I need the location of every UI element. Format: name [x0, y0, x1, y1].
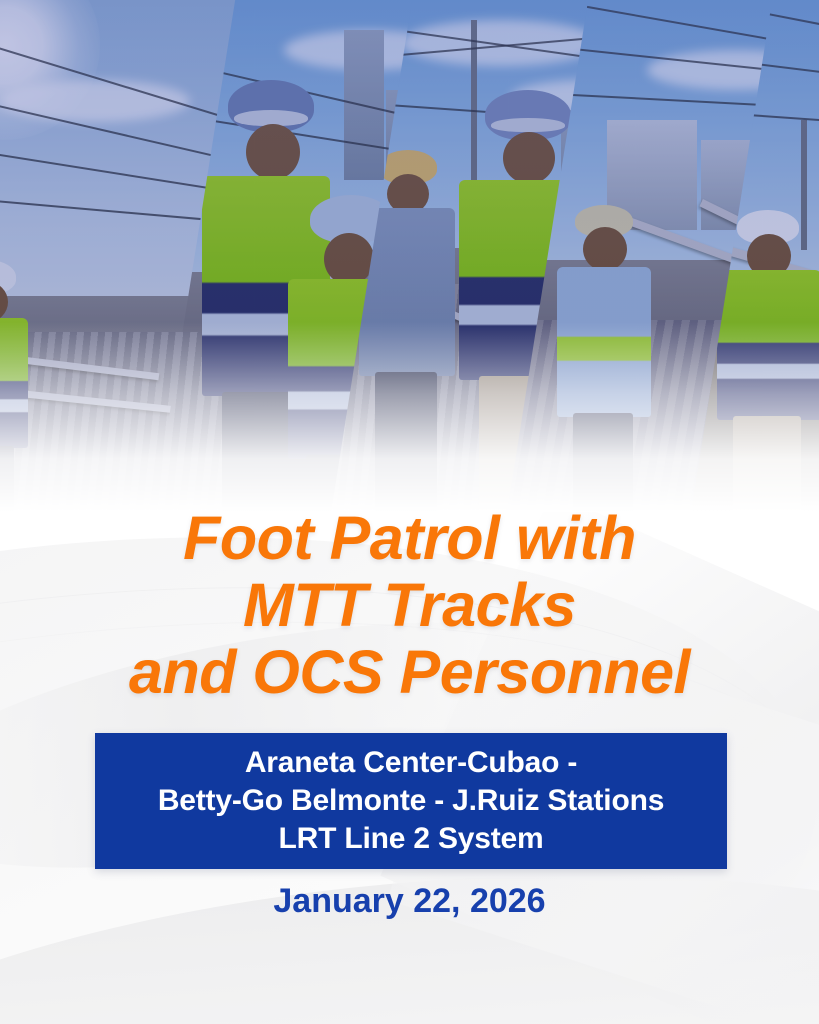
poster-content: Foot Patrol with MTT Tracks and OCS Pers…	[0, 0, 819, 1024]
banner-line-3: LRT Line 2 System	[278, 820, 543, 858]
location-banner: Araneta Center-Cubao - Betty-Go Belmonte…	[95, 733, 727, 869]
title-line-1: Foot Patrol with	[0, 505, 819, 572]
banner-line-2: Betty-Go Belmonte - J.Ruiz Stations	[158, 782, 664, 820]
event-date: January 22, 2026	[0, 882, 819, 921]
banner-line-1: Araneta Center-Cubao -	[245, 744, 577, 782]
poster-title: Foot Patrol with MTT Tracks and OCS Pers…	[0, 505, 819, 706]
event-poster: Foot Patrol with MTT Tracks and OCS Pers…	[0, 0, 819, 1024]
title-line-2: MTT Tracks	[0, 572, 819, 639]
title-line-3: and OCS Personnel	[0, 639, 819, 706]
